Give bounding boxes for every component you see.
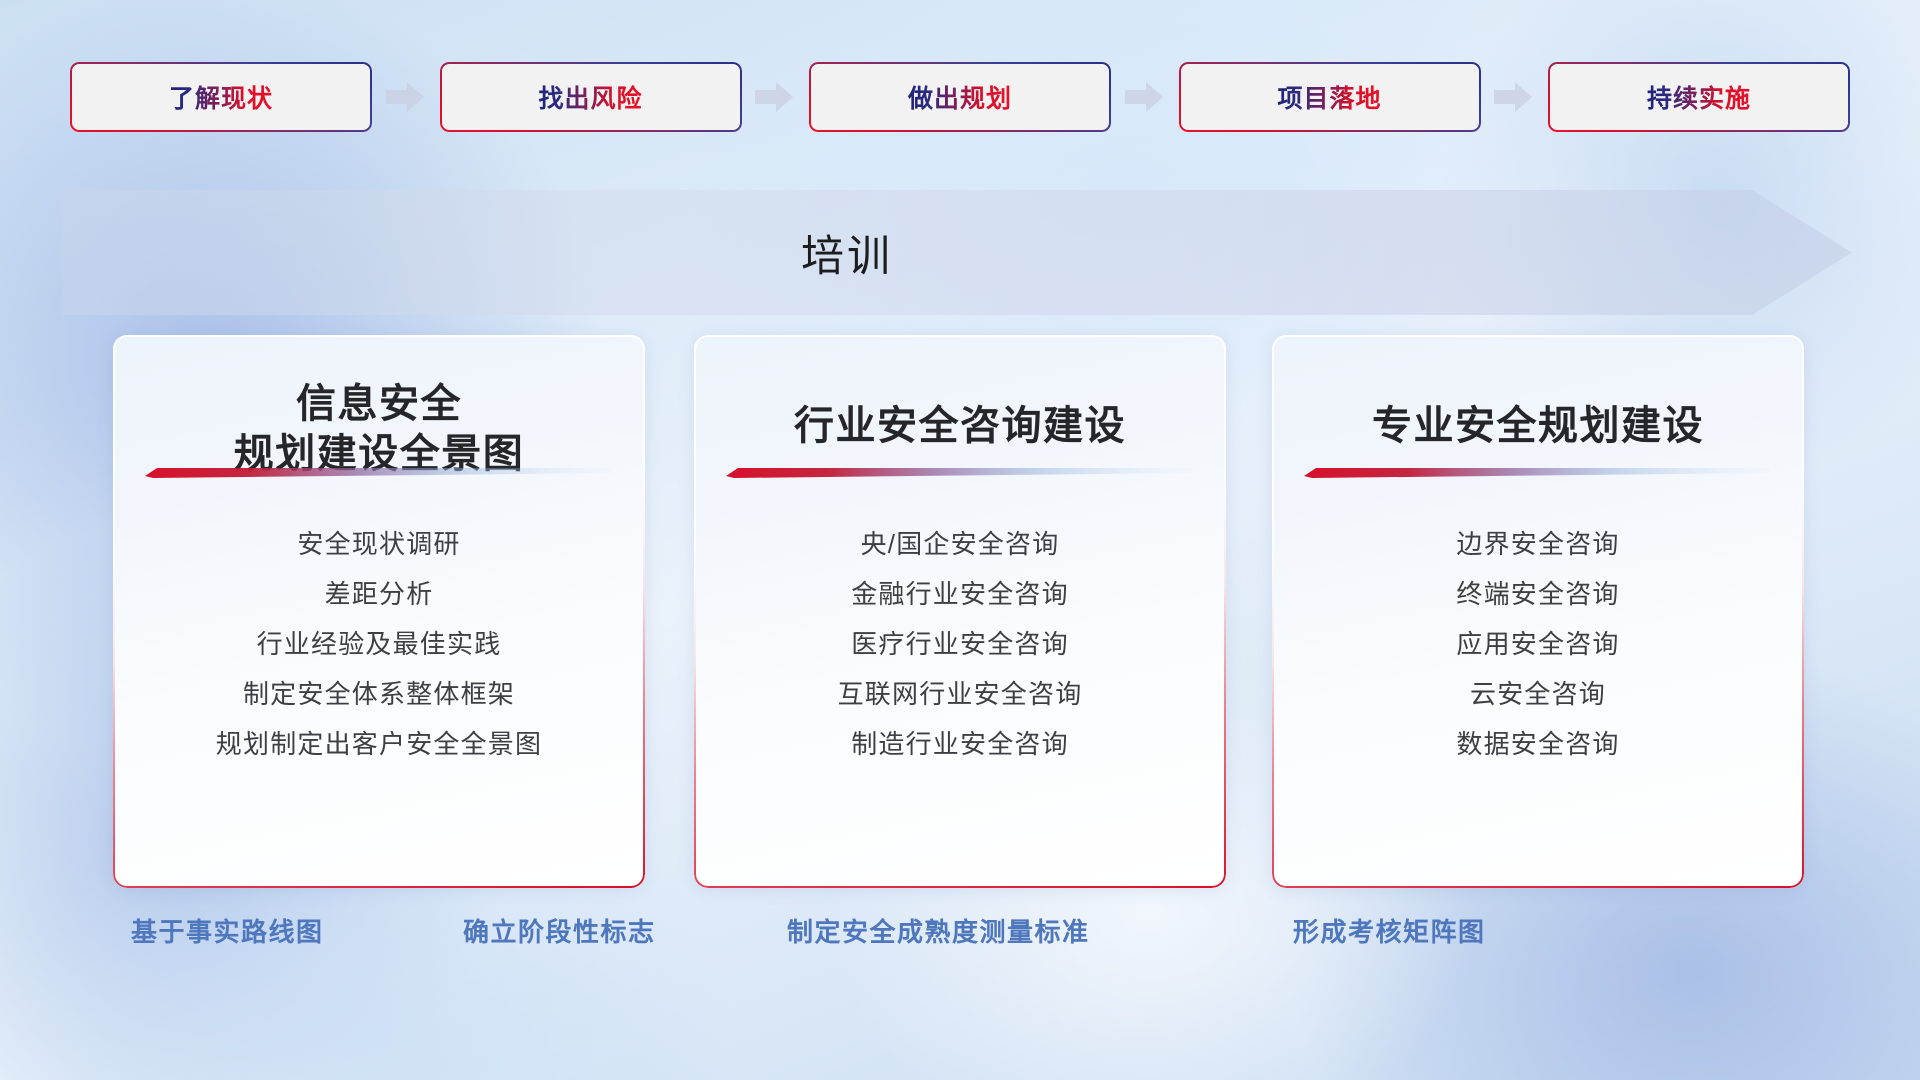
process-step-row: 了解现状 找出风险 做出规划 项目落地 持续实施 bbox=[70, 62, 1850, 132]
card-title-1: 信息安全 规划建设全景图 bbox=[151, 335, 607, 480]
list-item: 安全现状调研 bbox=[113, 519, 645, 569]
card-title-2: 行业安全咨询建设 bbox=[732, 335, 1188, 451]
step-box-5[interactable]: 持续实施 bbox=[1548, 62, 1850, 132]
footnote-row: 基于事实路线图 确立阶段性标志 制定安全成熟度测量标准 形成考核矩阵图 bbox=[0, 912, 1920, 962]
list-item: 云安全咨询 bbox=[1272, 669, 1804, 719]
list-item: 互联网行业安全咨询 bbox=[694, 669, 1226, 719]
step-label-2: 找出风险 bbox=[538, 79, 642, 115]
list-item: 制定安全体系整体框架 bbox=[113, 669, 645, 719]
step-label-5: 持续实施 bbox=[1647, 79, 1751, 115]
list-item: 医疗行业安全咨询 bbox=[694, 619, 1226, 669]
step-box-1[interactable]: 了解现状 bbox=[70, 62, 372, 132]
footnote-1: 基于事实路线图 bbox=[131, 912, 324, 949]
card-title-line: 信息安全 bbox=[151, 379, 607, 429]
step-box-2[interactable]: 找出风险 bbox=[440, 62, 742, 132]
footnote-3: 制定安全成熟度测量标准 bbox=[787, 912, 1090, 949]
arrow-right-icon bbox=[1494, 80, 1534, 114]
list-item: 应用安全咨询 bbox=[1272, 619, 1804, 669]
card-list-2: 央/国企安全咨询 金融行业安全咨询 医疗行业安全咨询 互联网行业安全咨询 制造行… bbox=[694, 519, 1226, 769]
list-item: 行业经验及最佳实践 bbox=[113, 619, 645, 669]
list-item: 差距分析 bbox=[113, 569, 645, 619]
card-information-security[interactable]: 信息安全 规划建设全景图 bbox=[113, 335, 645, 888]
banner-title: 培训 bbox=[62, 190, 1632, 315]
arrow-right-icon bbox=[755, 80, 795, 114]
slide-stage: 了解现状 找出风险 做出规划 项目落地 持续实施 bbox=[0, 0, 1920, 1080]
list-item: 制造行业安全咨询 bbox=[694, 719, 1226, 769]
arrow-right-icon bbox=[1125, 80, 1165, 114]
card-industry-security-consulting[interactable]: 行业安全咨询建设 央/国企安全咨询 bbox=[694, 335, 1226, 888]
card-title-line: 行业安全咨询建设 bbox=[732, 401, 1188, 451]
card-group: 信息安全 规划建设全景图 bbox=[0, 335, 1920, 890]
footnote-4: 形成考核矩阵图 bbox=[1293, 912, 1486, 949]
step-box-4[interactable]: 项目落地 bbox=[1179, 62, 1481, 132]
step-label-1: 了解现状 bbox=[169, 79, 273, 115]
step-label-3: 做出规划 bbox=[908, 79, 1012, 115]
footnote-2: 确立阶段性标志 bbox=[463, 912, 656, 949]
arrow-right-icon bbox=[386, 80, 426, 114]
card-divider-1 bbox=[145, 466, 611, 478]
card-title-line: 专业安全规划建设 bbox=[1310, 401, 1766, 451]
card-divider-3 bbox=[1304, 466, 1770, 478]
list-item: 央/国企安全咨询 bbox=[694, 519, 1226, 569]
list-item: 数据安全咨询 bbox=[1272, 719, 1804, 769]
list-item: 金融行业安全咨询 bbox=[694, 569, 1226, 619]
card-list-1: 安全现状调研 差距分析 行业经验及最佳实践 制定安全体系整体框架 规划制定出客户… bbox=[113, 519, 645, 769]
list-item: 边界安全咨询 bbox=[1272, 519, 1804, 569]
list-item: 规划制定出客户安全全景图 bbox=[113, 719, 645, 769]
training-banner: 培训 bbox=[62, 190, 1852, 315]
card-title-3: 专业安全规划建设 bbox=[1310, 335, 1766, 451]
list-item: 终端安全咨询 bbox=[1272, 569, 1804, 619]
step-box-3[interactable]: 做出规划 bbox=[809, 62, 1111, 132]
card-professional-security-planning[interactable]: 专业安全规划建设 边界安全咨询 bbox=[1272, 335, 1804, 888]
step-label-4: 项目落地 bbox=[1277, 79, 1381, 115]
card-list-3: 边界安全咨询 终端安全咨询 应用安全咨询 云安全咨询 数据安全咨询 bbox=[1272, 519, 1804, 769]
card-divider-2 bbox=[726, 466, 1192, 478]
